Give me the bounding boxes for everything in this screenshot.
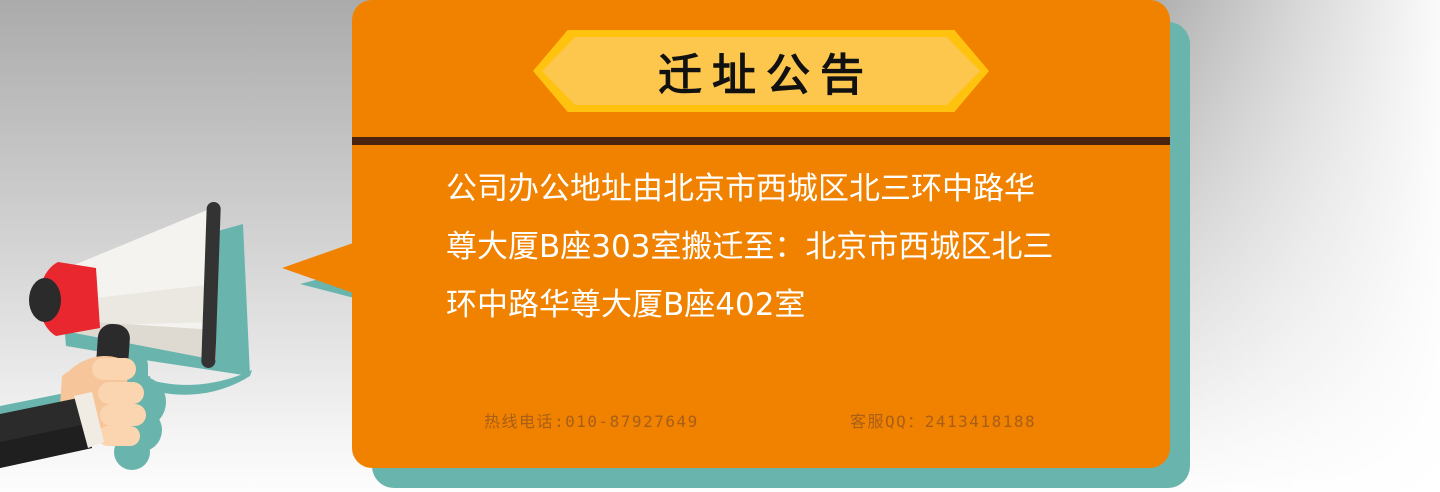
page-title: 迁址公告 [533, 30, 989, 112]
body-line: 公司办公地址由北京市西城区北三环中路华 [446, 160, 1106, 218]
hotline-text: 热线电话:010-87927649 [484, 408, 699, 432]
qq-text: 客服QQ：2413418188 [850, 408, 1036, 432]
title-ribbon: 迁址公告 [533, 30, 989, 112]
megaphone-illustration [0, 180, 340, 492]
body-line: 环中路华尊大厦B座402室 [446, 276, 1106, 334]
announcement-body: 公司办公地址由北京市西城区北三环中路华 尊大厦B座303室搬迁至：北京市西城区北… [446, 160, 1106, 334]
header-divider [352, 137, 1170, 145]
contact-row: 热线电话:010-87927649 客服QQ：2413418188 [446, 408, 1106, 436]
body-line: 尊大厦B座303室搬迁至：北京市西城区北三 [446, 218, 1106, 276]
announcement-banner: 迁址公告 公司办公地址由北京市西城区北三环中路华 尊大厦B座303室搬迁至：北京… [0, 0, 1440, 492]
megaphone-mouth [29, 262, 100, 336]
